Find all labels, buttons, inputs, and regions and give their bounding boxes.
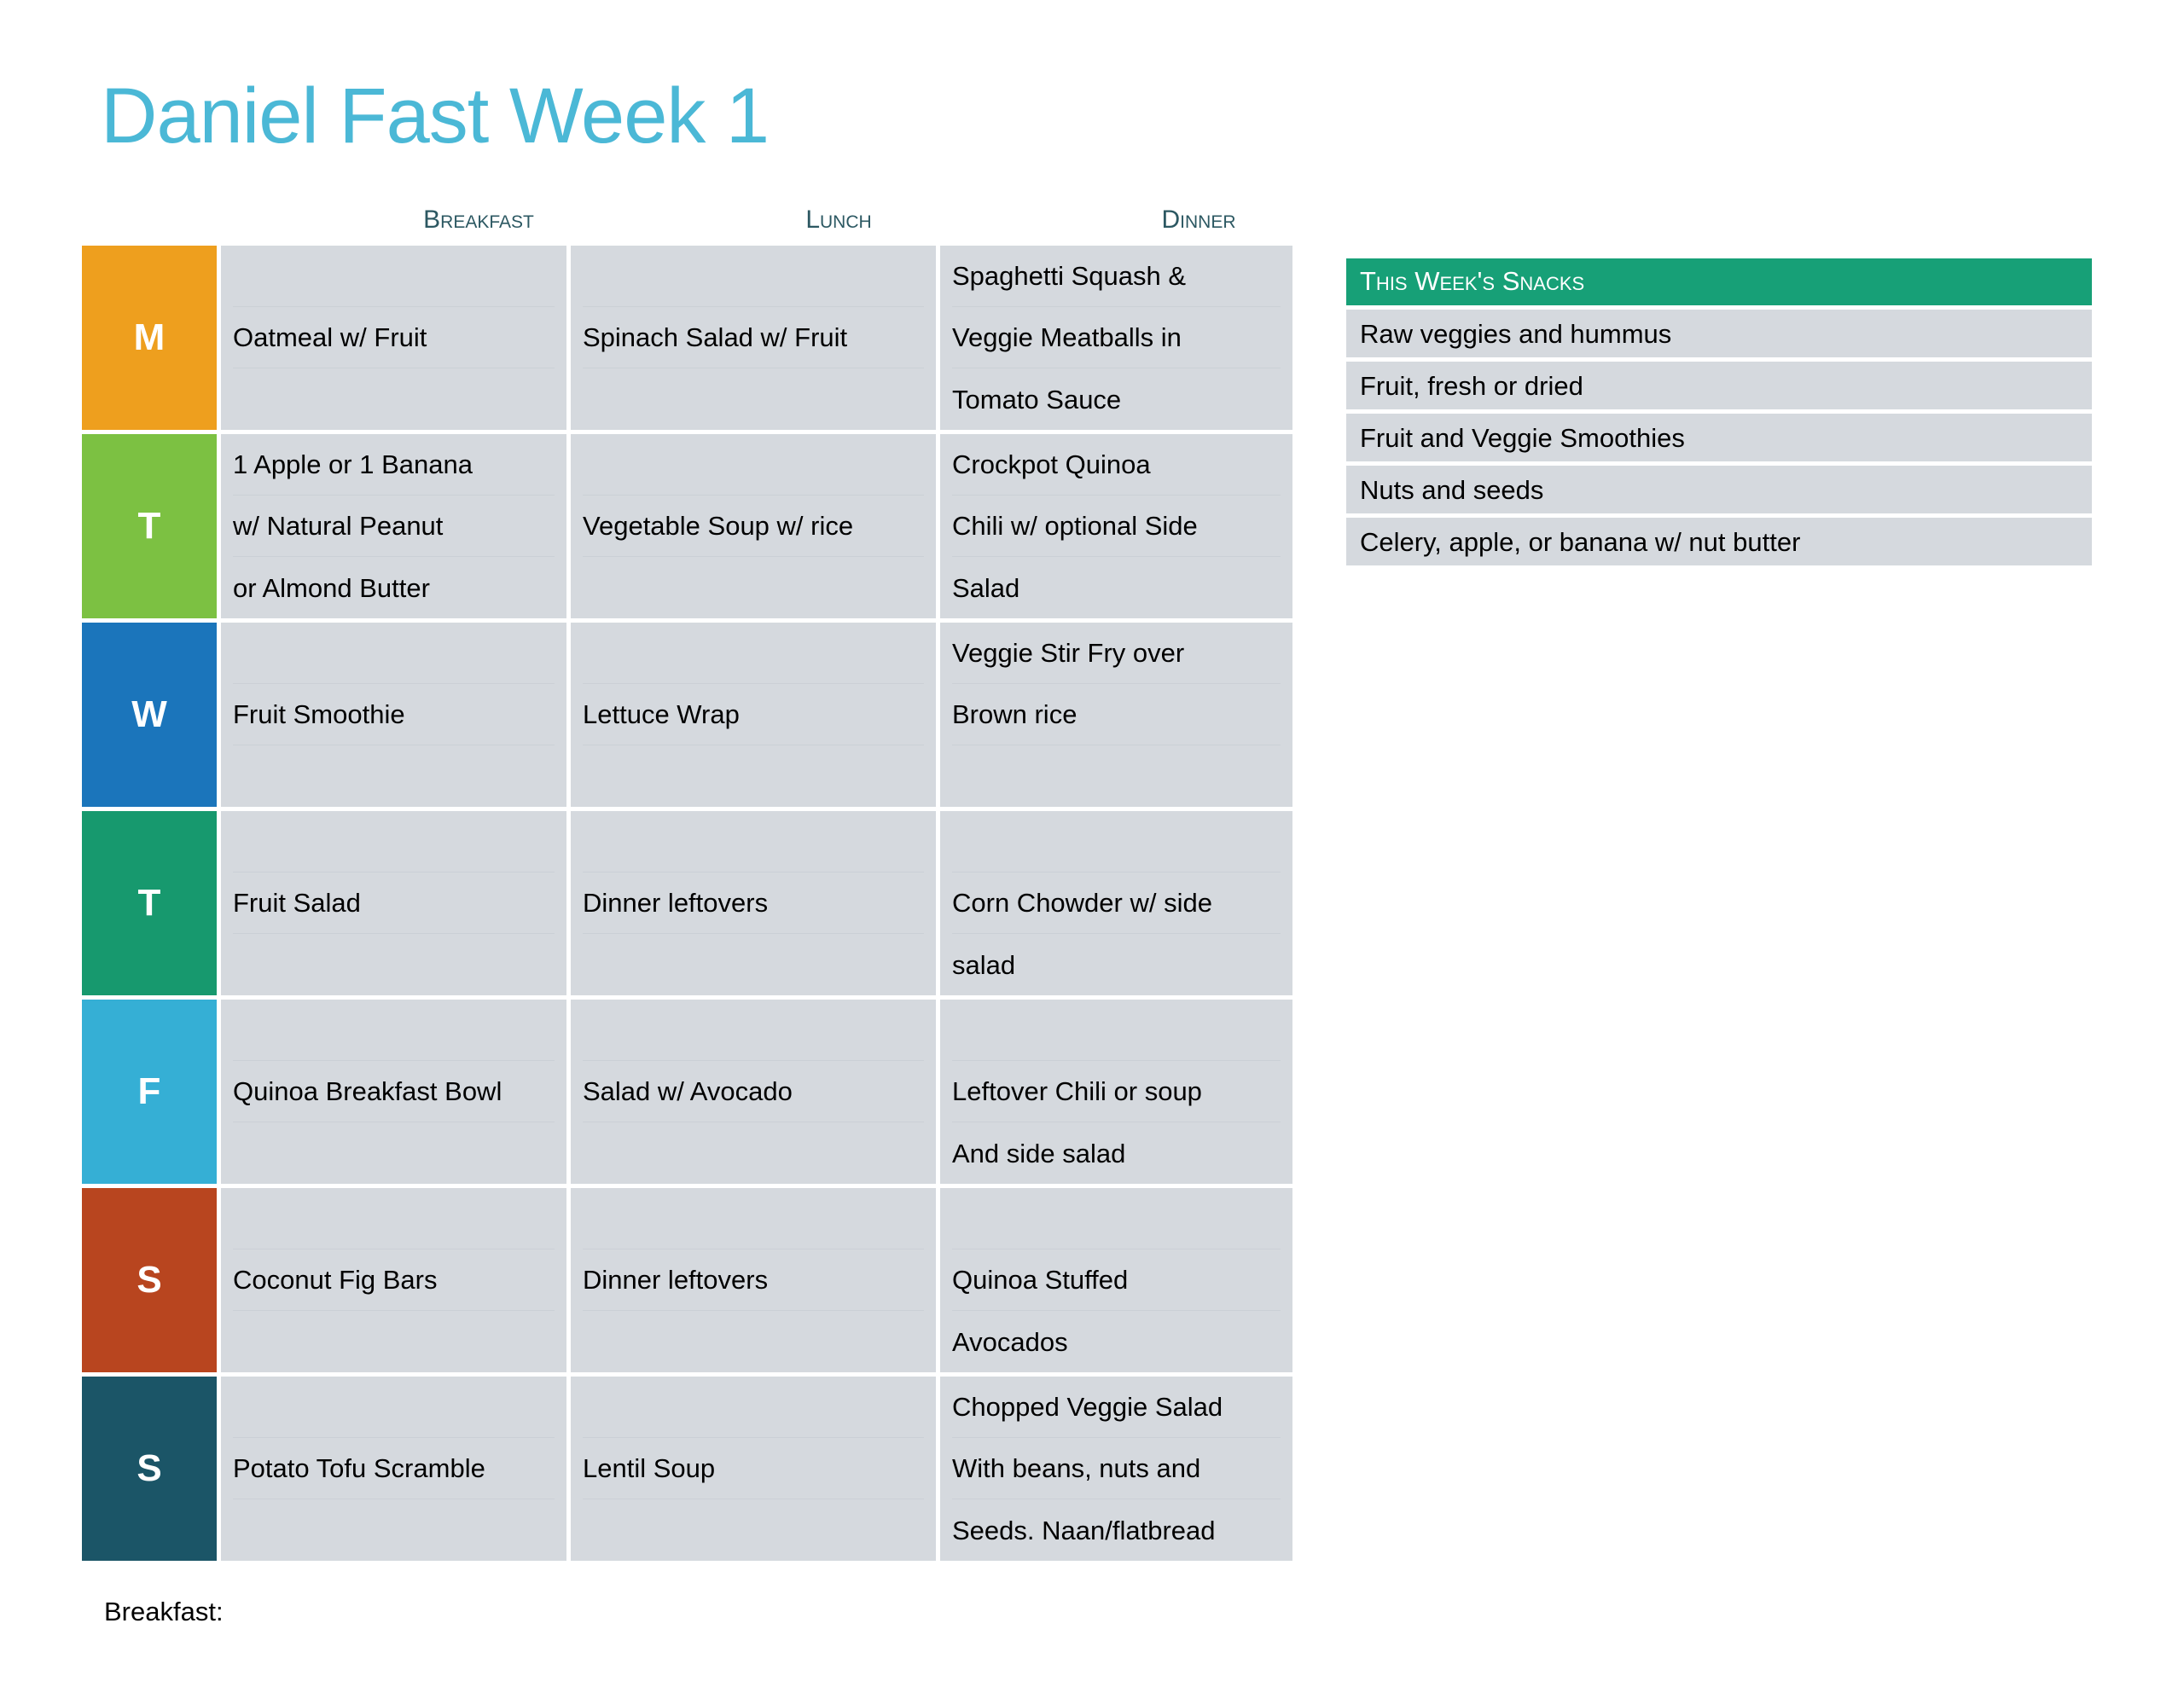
table-row: S Potato Tofu Scramble Lentil Soup Chopp… — [82, 1377, 1293, 1561]
list-item[interactable]: Nuts and seeds — [1346, 466, 2092, 513]
cell-thursday-dinner[interactable]: Corn Chowder w/ side salad — [940, 811, 1292, 995]
cell-thursday-breakfast[interactable]: Fruit Salad — [221, 811, 566, 995]
table-row: W Fruit Smoothie Lettuce Wrap Veggie Sti… — [82, 623, 1293, 807]
meal-line — [583, 1499, 924, 1561]
meal-line: Seeds. Naan/flatbread — [952, 1499, 1281, 1561]
table-row: F Quinoa Breakfast Bowl Salad w/ Avocado… — [82, 1000, 1293, 1184]
cell-monday-dinner[interactable]: Spaghetti Squash & Veggie Meatballs in T… — [940, 246, 1292, 430]
cell-monday-breakfast[interactable]: Oatmeal w/ Fruit — [221, 246, 566, 430]
cell-tuesday-breakfast[interactable]: 1 Apple or 1 Banana w/ Natural Peanut or… — [221, 434, 566, 618]
snacks-panel-header: This Week's Snacks — [1346, 258, 2092, 305]
meal-line — [233, 1377, 555, 1438]
meal-line — [583, 434, 924, 496]
meal-line: Veggie Stir Fry over — [952, 623, 1281, 684]
cell-tuesday-lunch[interactable]: Vegetable Soup w/ rice — [571, 434, 936, 618]
meal-line: Crockpot Quinoa — [952, 434, 1281, 496]
meal-line: Coconut Fig Bars — [233, 1249, 555, 1311]
cell-friday-dinner[interactable]: Leftover Chili or soup And side salad — [940, 1000, 1292, 1184]
day-badge-sunday: S — [82, 1377, 217, 1561]
meal-line: Leftover Chili or soup — [952, 1061, 1281, 1122]
meal-line: And side salad — [952, 1122, 1281, 1184]
table-row: M Oatmeal w/ Fruit Spinach Salad w/ Frui… — [82, 246, 1293, 430]
meal-line — [233, 811, 555, 872]
footer-note: Breakfast: — [104, 1598, 224, 1625]
meal-line — [233, 1499, 555, 1561]
meal-line: Salad — [952, 557, 1281, 618]
meal-line — [952, 1188, 1281, 1249]
meal-line: Spinach Salad w/ Fruit — [583, 307, 924, 368]
cell-wednesday-dinner[interactable]: Veggie Stir Fry over Brown rice — [940, 623, 1292, 807]
column-header-lunch: Lunch — [655, 207, 1022, 233]
day-badge-monday: M — [82, 246, 217, 430]
meal-line: Oatmeal w/ Fruit — [233, 307, 555, 368]
cell-monday-lunch[interactable]: Spinach Salad w/ Fruit — [571, 246, 936, 430]
meal-line: 1 Apple or 1 Banana — [233, 434, 555, 496]
meal-line: Corn Chowder w/ side — [952, 872, 1281, 934]
cell-saturday-lunch[interactable]: Dinner leftovers — [571, 1188, 936, 1372]
meal-line: With beans, nuts and — [952, 1438, 1281, 1499]
page-title: Daniel Fast Week 1 — [101, 77, 769, 155]
meal-line — [233, 368, 555, 430]
list-item[interactable]: Fruit, fresh or dried — [1346, 362, 2092, 409]
meal-line — [583, 934, 924, 995]
cell-wednesday-lunch[interactable]: Lettuce Wrap — [571, 623, 936, 807]
meal-line: Fruit Salad — [233, 872, 555, 934]
meal-line: Brown rice — [952, 684, 1281, 745]
meal-line: Potato Tofu Scramble — [233, 1438, 555, 1499]
meal-line — [583, 1188, 924, 1249]
list-item[interactable]: Raw veggies and hummus — [1346, 310, 2092, 357]
snacks-panel: This Week's Snacks Raw veggies and hummu… — [1346, 258, 2092, 565]
meal-line — [583, 1377, 924, 1438]
cell-thursday-lunch[interactable]: Dinner leftovers — [571, 811, 936, 995]
meal-line: or Almond Butter — [233, 557, 555, 618]
cell-sunday-dinner[interactable]: Chopped Veggie Salad With beans, nuts an… — [940, 1377, 1292, 1561]
meal-line: Dinner leftovers — [583, 872, 924, 934]
meal-line: w/ Natural Peanut — [233, 496, 555, 557]
meal-line: Spaghetti Squash & — [952, 246, 1281, 307]
cell-sunday-breakfast[interactable]: Potato Tofu Scramble — [221, 1377, 566, 1561]
day-badge-thursday: T — [82, 811, 217, 995]
meal-line: Avocados — [952, 1311, 1281, 1372]
meal-line: Tomato Sauce — [952, 368, 1281, 430]
meal-line — [233, 1122, 555, 1184]
meal-line — [583, 1122, 924, 1184]
day-badge-saturday: S — [82, 1188, 217, 1372]
cell-wednesday-breakfast[interactable]: Fruit Smoothie — [221, 623, 566, 807]
meal-line — [952, 811, 1281, 872]
cell-tuesday-dinner[interactable]: Crockpot Quinoa Chili w/ optional Side S… — [940, 434, 1292, 618]
meal-line — [952, 745, 1281, 807]
cell-saturday-dinner[interactable]: Quinoa Stuffed Avocados — [940, 1188, 1292, 1372]
meal-line: Lettuce Wrap — [583, 684, 924, 745]
meal-line — [952, 1000, 1281, 1061]
meal-line: Quinoa Breakfast Bowl — [233, 1061, 555, 1122]
meal-line — [583, 246, 924, 307]
meal-line: Fruit Smoothie — [233, 684, 555, 745]
meal-line: salad — [952, 934, 1281, 995]
cell-friday-breakfast[interactable]: Quinoa Breakfast Bowl — [221, 1000, 566, 1184]
table-row: T 1 Apple or 1 Banana w/ Natural Peanut … — [82, 434, 1293, 618]
cell-sunday-lunch[interactable]: Lentil Soup — [571, 1377, 936, 1561]
day-badge-friday: F — [82, 1000, 217, 1184]
meal-line — [583, 745, 924, 807]
table-row: S Coconut Fig Bars Dinner leftovers Quin… — [82, 1188, 1293, 1372]
meal-line: Lentil Soup — [583, 1438, 924, 1499]
meal-line: Vegetable Soup w/ rice — [583, 496, 924, 557]
meal-line — [233, 934, 555, 995]
meal-line: Chopped Veggie Salad — [952, 1377, 1281, 1438]
meal-plan-table: M Oatmeal w/ Fruit Spinach Salad w/ Frui… — [82, 246, 1293, 1565]
day-badge-wednesday: W — [82, 623, 217, 807]
meal-line — [583, 368, 924, 430]
meal-line — [583, 623, 924, 684]
day-badge-tuesday: T — [82, 434, 217, 618]
list-item[interactable]: Celery, apple, or banana w/ nut butter — [1346, 518, 2092, 565]
meal-line — [233, 745, 555, 807]
meal-line — [233, 1188, 555, 1249]
meal-line — [583, 1000, 924, 1061]
table-row: T Fruit Salad Dinner leftovers Corn Chow… — [82, 811, 1293, 995]
cell-saturday-breakfast[interactable]: Coconut Fig Bars — [221, 1188, 566, 1372]
meal-line — [233, 1311, 555, 1372]
meal-line: Veggie Meatballs in — [952, 307, 1281, 368]
meal-line — [583, 557, 924, 618]
column-header-breakfast: Breakfast — [304, 207, 653, 233]
list-item[interactable]: Fruit and Veggie Smoothies — [1346, 414, 2092, 461]
meal-line — [233, 246, 555, 307]
meal-line — [233, 623, 555, 684]
meal-line — [233, 1000, 555, 1061]
meal-line: Quinoa Stuffed — [952, 1249, 1281, 1311]
meal-line — [583, 1311, 924, 1372]
meal-line: Salad w/ Avocado — [583, 1061, 924, 1122]
column-headers: Breakfast Lunch Dinner — [82, 207, 1293, 243]
meal-line — [583, 811, 924, 872]
cell-friday-lunch[interactable]: Salad w/ Avocado — [571, 1000, 936, 1184]
meal-line: Chili w/ optional Side — [952, 496, 1281, 557]
meal-line: Dinner leftovers — [583, 1249, 924, 1311]
column-header-dinner: Dinner — [1024, 207, 1374, 233]
